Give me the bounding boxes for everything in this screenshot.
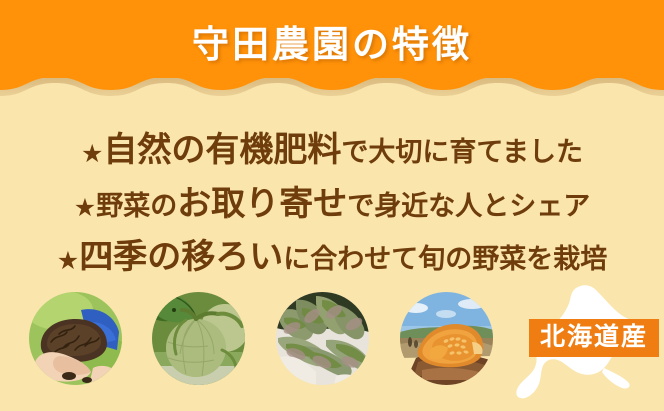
feature-3-emphasis: 四季の移ろい [79,237,283,277]
feature-line-2: ★野菜のお取り寄せで身近な人とシェア [0,176,664,225]
melon-photo [152,292,245,385]
star-icon: ★ [57,246,79,275]
pumpkin-photo [400,292,493,385]
hokkaido-origin-badge: 北海道産 [529,319,659,357]
hokkaido-origin-group: 北海道産 [512,282,664,411]
compost-in-hands-photo [29,292,122,385]
feature-3-rest: に合わせて旬の野菜を栽培 [283,244,607,275]
asparagus-photo [276,292,369,385]
page-title: 守田農園の特徴 [0,0,664,88]
feature-1-rest: で大切に育てました [341,137,583,168]
feature-list: ★自然の有機肥料で大切に育てました ★野菜のお取り寄せで身近な人とシェア ★四季… [0,116,664,286]
banner-header: 守田農園の特徴 [0,0,664,104]
star-icon: ★ [81,139,103,168]
feature-2-lead: 野菜の [96,191,177,222]
star-icon: ★ [74,193,96,222]
feature-1-emphasis: 自然の有機肥料 [103,130,341,170]
feature-line-3: ★四季の移ろいに合わせて旬の野菜を栽培 [0,229,664,278]
feature-line-1: ★自然の有機肥料で大切に育てました [0,122,664,171]
feature-2-rest: で身近な人とシェア [347,191,590,222]
feature-2-emphasis: お取り寄せ [177,184,347,224]
farm-features-banner: 守田農園の特徴 ★自然の有機肥料で大切に育てました ★野菜のお取り寄せで身近な人… [0,0,664,411]
